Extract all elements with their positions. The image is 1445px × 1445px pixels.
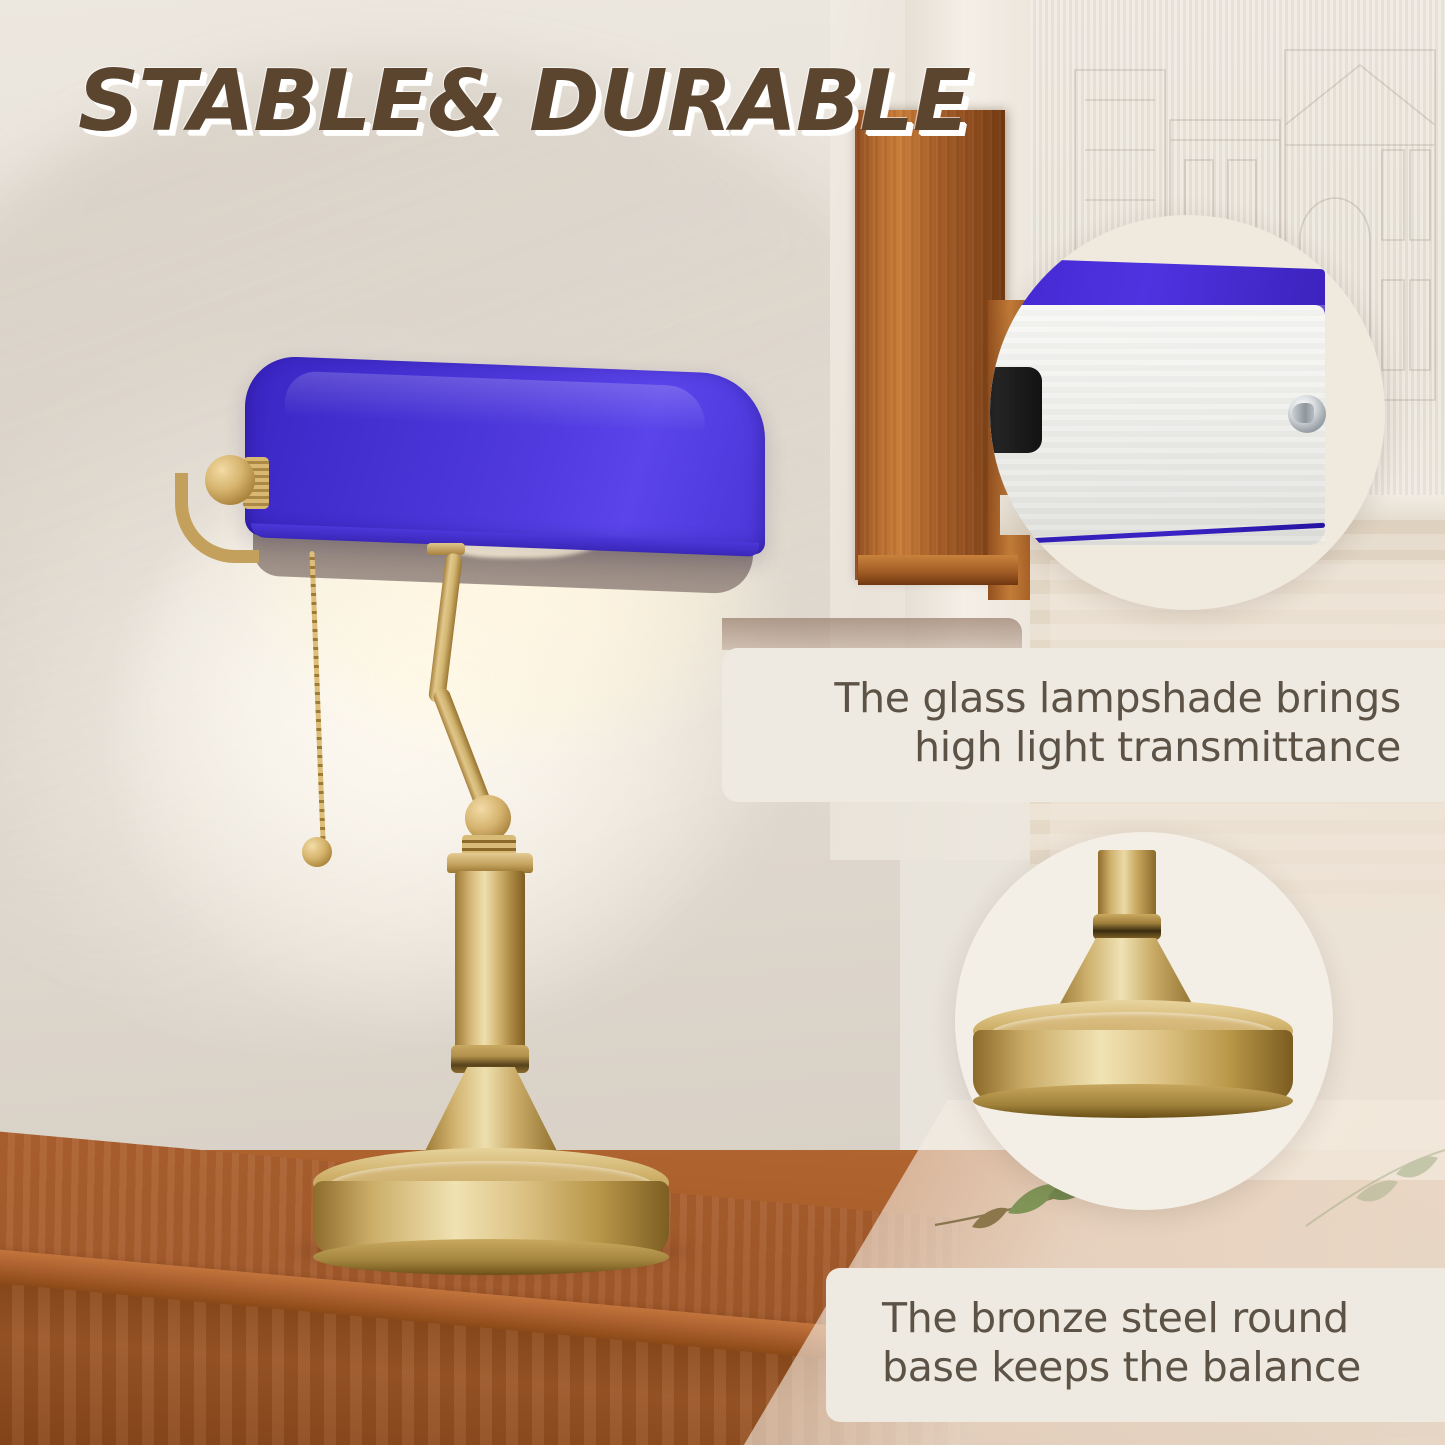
callout-base-detail [955, 832, 1333, 1210]
callout-black-socket [990, 367, 1042, 453]
caption-bronze-base: The bronze steel round base keeps the ba… [826, 1268, 1445, 1422]
base-flare [421, 1067, 561, 1159]
base-bottom-rim [313, 1239, 669, 1275]
column-shaft [455, 871, 525, 1051]
window-frame-bevel [858, 555, 1018, 585]
caption-tab-decoration [722, 618, 1022, 650]
page-title: STABLE& DURABLE [78, 52, 970, 151]
callout-base-band [1093, 914, 1161, 940]
pull-chain-ball[interactable] [302, 837, 332, 867]
shade-highlight [285, 371, 705, 433]
caption-line-1: The glass lampshade brings [766, 674, 1401, 723]
caption-line-2: base keeps the balance [882, 1343, 1401, 1392]
glass-shade [245, 355, 765, 555]
caption-line-1: The bronze steel round [882, 1294, 1401, 1343]
window-frame [855, 110, 1005, 580]
green-sprig-secondary-icon [1300, 1140, 1445, 1240]
column-cap [447, 853, 533, 873]
bankers-desk-lamp [165, 355, 785, 1255]
callout-shade-detail [990, 215, 1385, 610]
callout-chrome-screw-shaft [1292, 403, 1314, 423]
shade-knob-ball [205, 455, 255, 505]
caption-line-2: high light transmittance [766, 723, 1401, 772]
caption-glass-lampshade: The glass lampshade brings high light tr… [722, 648, 1445, 802]
product-feature-image: STABLE& DURABLE The glass lampshade brin… [0, 0, 1445, 1445]
callout-base-bottom-rim [973, 1084, 1293, 1118]
wood-grain-texture [855, 110, 1005, 580]
arm-top-cap [427, 543, 465, 555]
